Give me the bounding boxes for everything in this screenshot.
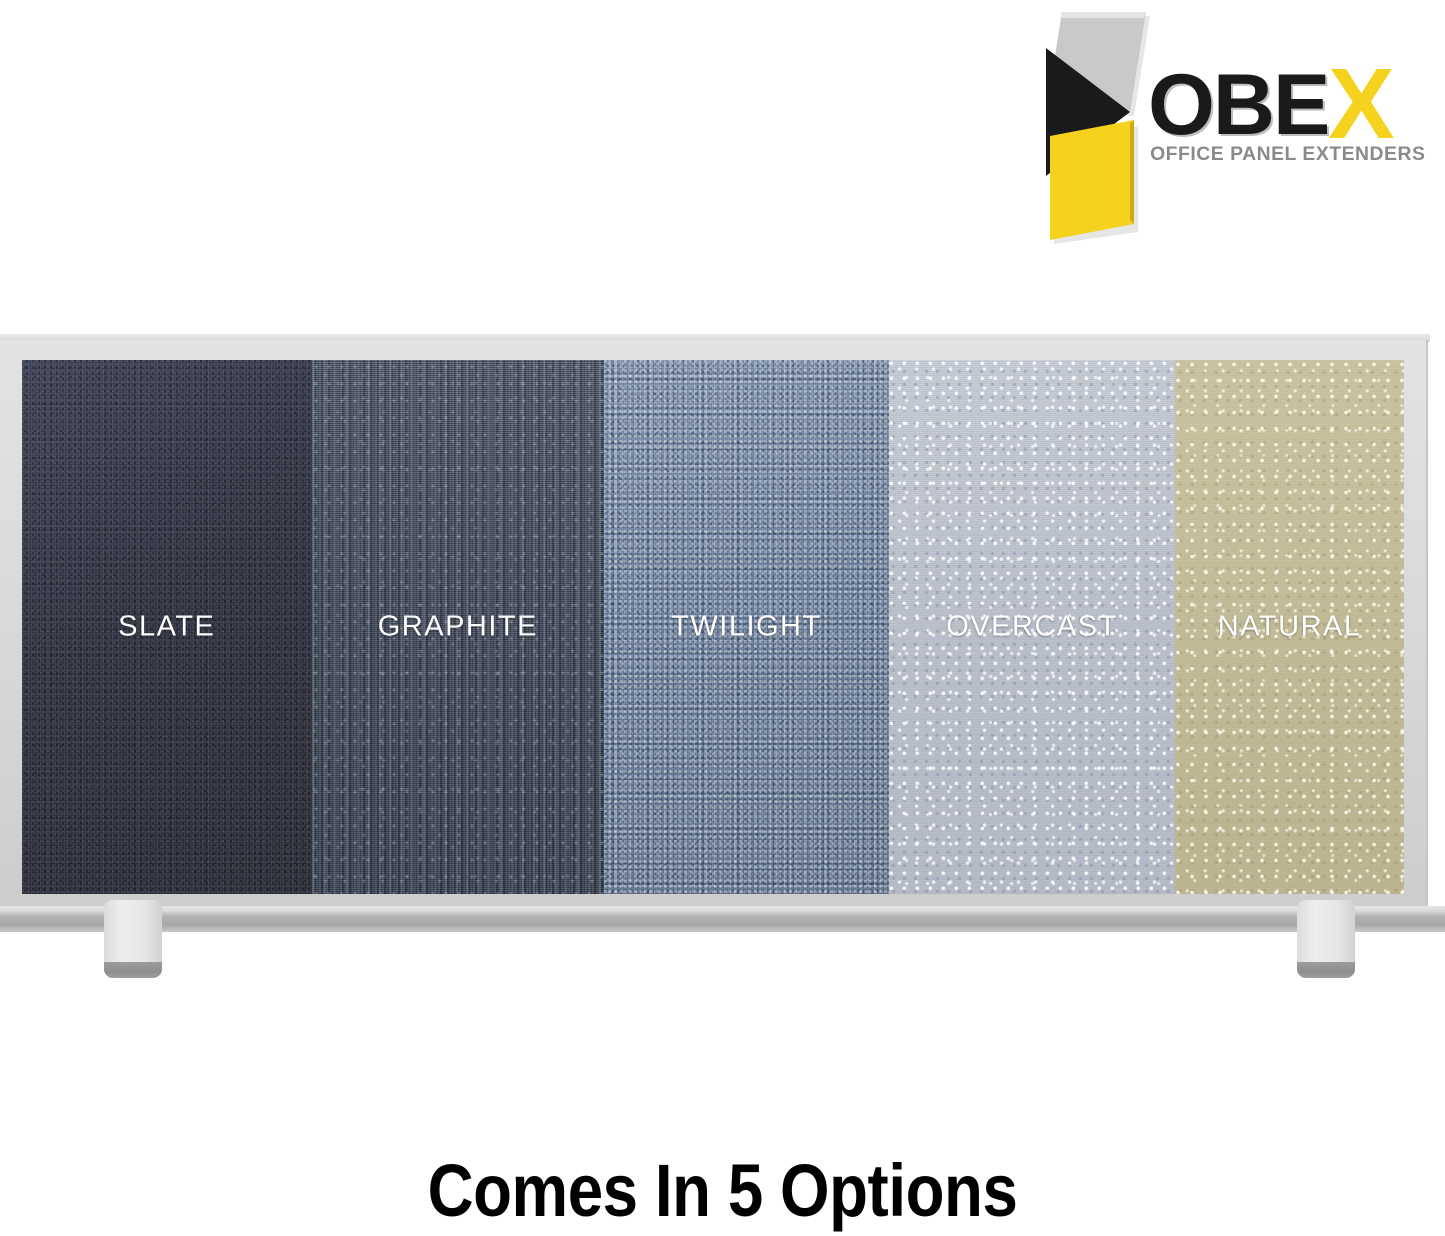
panel-foot-left: [104, 900, 162, 978]
frame-bottom-rail: [0, 906, 1445, 932]
panel-foot-left-base: [104, 962, 162, 978]
swatch-label-overcast: OVERCAST: [889, 611, 1176, 644]
swatch-label-twilight: TWILIGHT: [604, 611, 889, 644]
swatch-graphite[interactable]: GRAPHITE: [312, 360, 605, 894]
obex-chevron-mark-icon: [1034, 8, 1164, 248]
panel-extender-product: SLATE GRAPHITE TWILIGHT OVERCAST NATURAL: [0, 334, 1445, 984]
obex-logo: OBE OBE X OFFICE PANEL EXTENDERS: [1028, 8, 1428, 248]
panel-foot-right: [1297, 900, 1355, 978]
swatch-label-graphite: GRAPHITE: [312, 611, 605, 644]
panel-foot-right-base: [1297, 962, 1355, 978]
swatch-slate[interactable]: SLATE: [22, 360, 312, 894]
panel-frame: SLATE GRAPHITE TWILIGHT OVERCAST NATURAL: [0, 340, 1428, 912]
swatch-overcast[interactable]: OVERCAST: [889, 360, 1176, 894]
caption-text: Comes In 5 Options: [101, 1148, 1344, 1233]
svg-text:OBE: OBE: [1148, 60, 1328, 153]
obex-wordmark: OBE OBE X OFFICE PANEL EXTENDERS: [1146, 60, 1436, 190]
swatch-twilight[interactable]: TWILIGHT: [604, 360, 889, 894]
swatch-natural[interactable]: NATURAL: [1175, 360, 1404, 894]
swatch-label-natural: NATURAL: [1175, 611, 1404, 644]
fabric-swatch-strip: SLATE GRAPHITE TWILIGHT OVERCAST NATURAL: [22, 360, 1404, 894]
swatch-label-slate: SLATE: [22, 611, 312, 644]
svg-text:OFFICE PANEL EXTENDERS: OFFICE PANEL EXTENDERS: [1150, 144, 1425, 165]
